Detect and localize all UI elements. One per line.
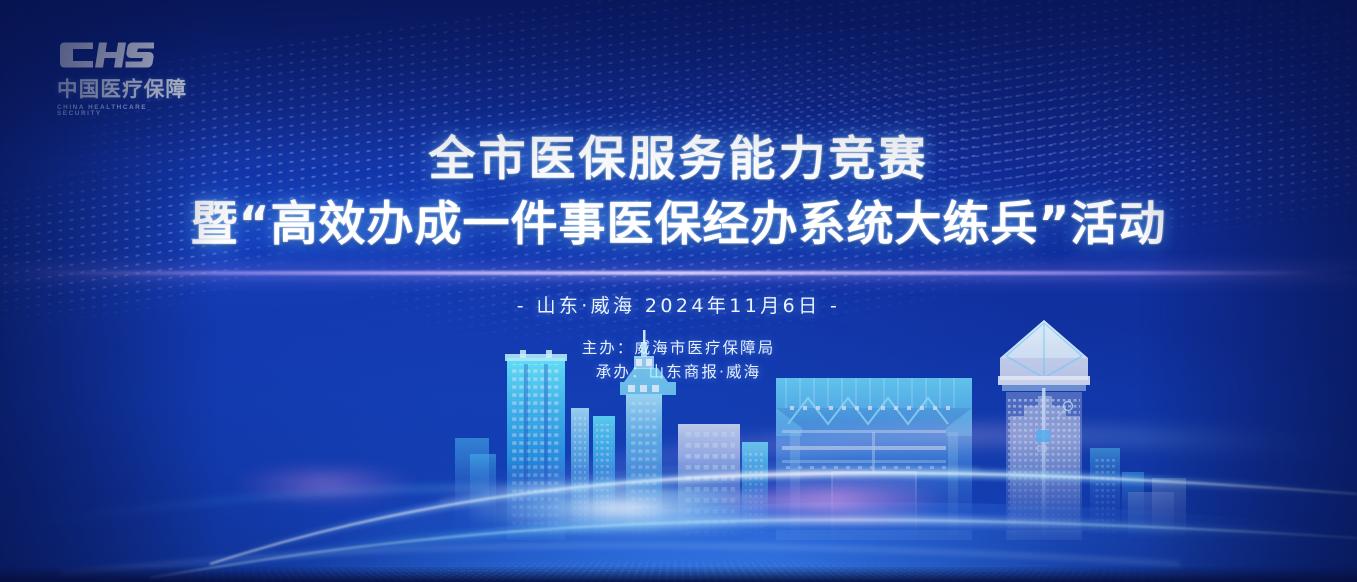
event-location-date: - 山东·威海 2024年11月6日 -: [0, 291, 1357, 318]
logo-english-name: CHINA HEALTHCARE SECURITY: [57, 105, 192, 118]
pink-glow-right: [713, 480, 943, 520]
chs-logo: 中国医疗保障 CHINA HEALTHCARE SECURITY: [57, 38, 192, 117]
event-banner: 中国医疗保障 CHINA HEALTHCARE SECURITY 全市医保服务能…: [0, 0, 1357, 582]
title-block: 全市医保服务能力竞赛 暨“高效办成一件事医保经办系统大练兵”活动: [0, 136, 1357, 249]
pink-glow-left: [236, 464, 416, 504]
bottom-fade: [0, 566, 1357, 582]
logo-chinese-name: 中国医疗保障: [57, 79, 192, 100]
divider-beam-glow: [0, 277, 1357, 279]
page-title-line2: 暨“高效办成一件事医保经办系统大练兵”活动: [0, 201, 1357, 249]
page-title-line1: 全市医保服务能力竞赛: [0, 136, 1357, 184]
divider-beam: [0, 271, 1357, 275]
chs-wordmark-icon: [57, 38, 157, 72]
